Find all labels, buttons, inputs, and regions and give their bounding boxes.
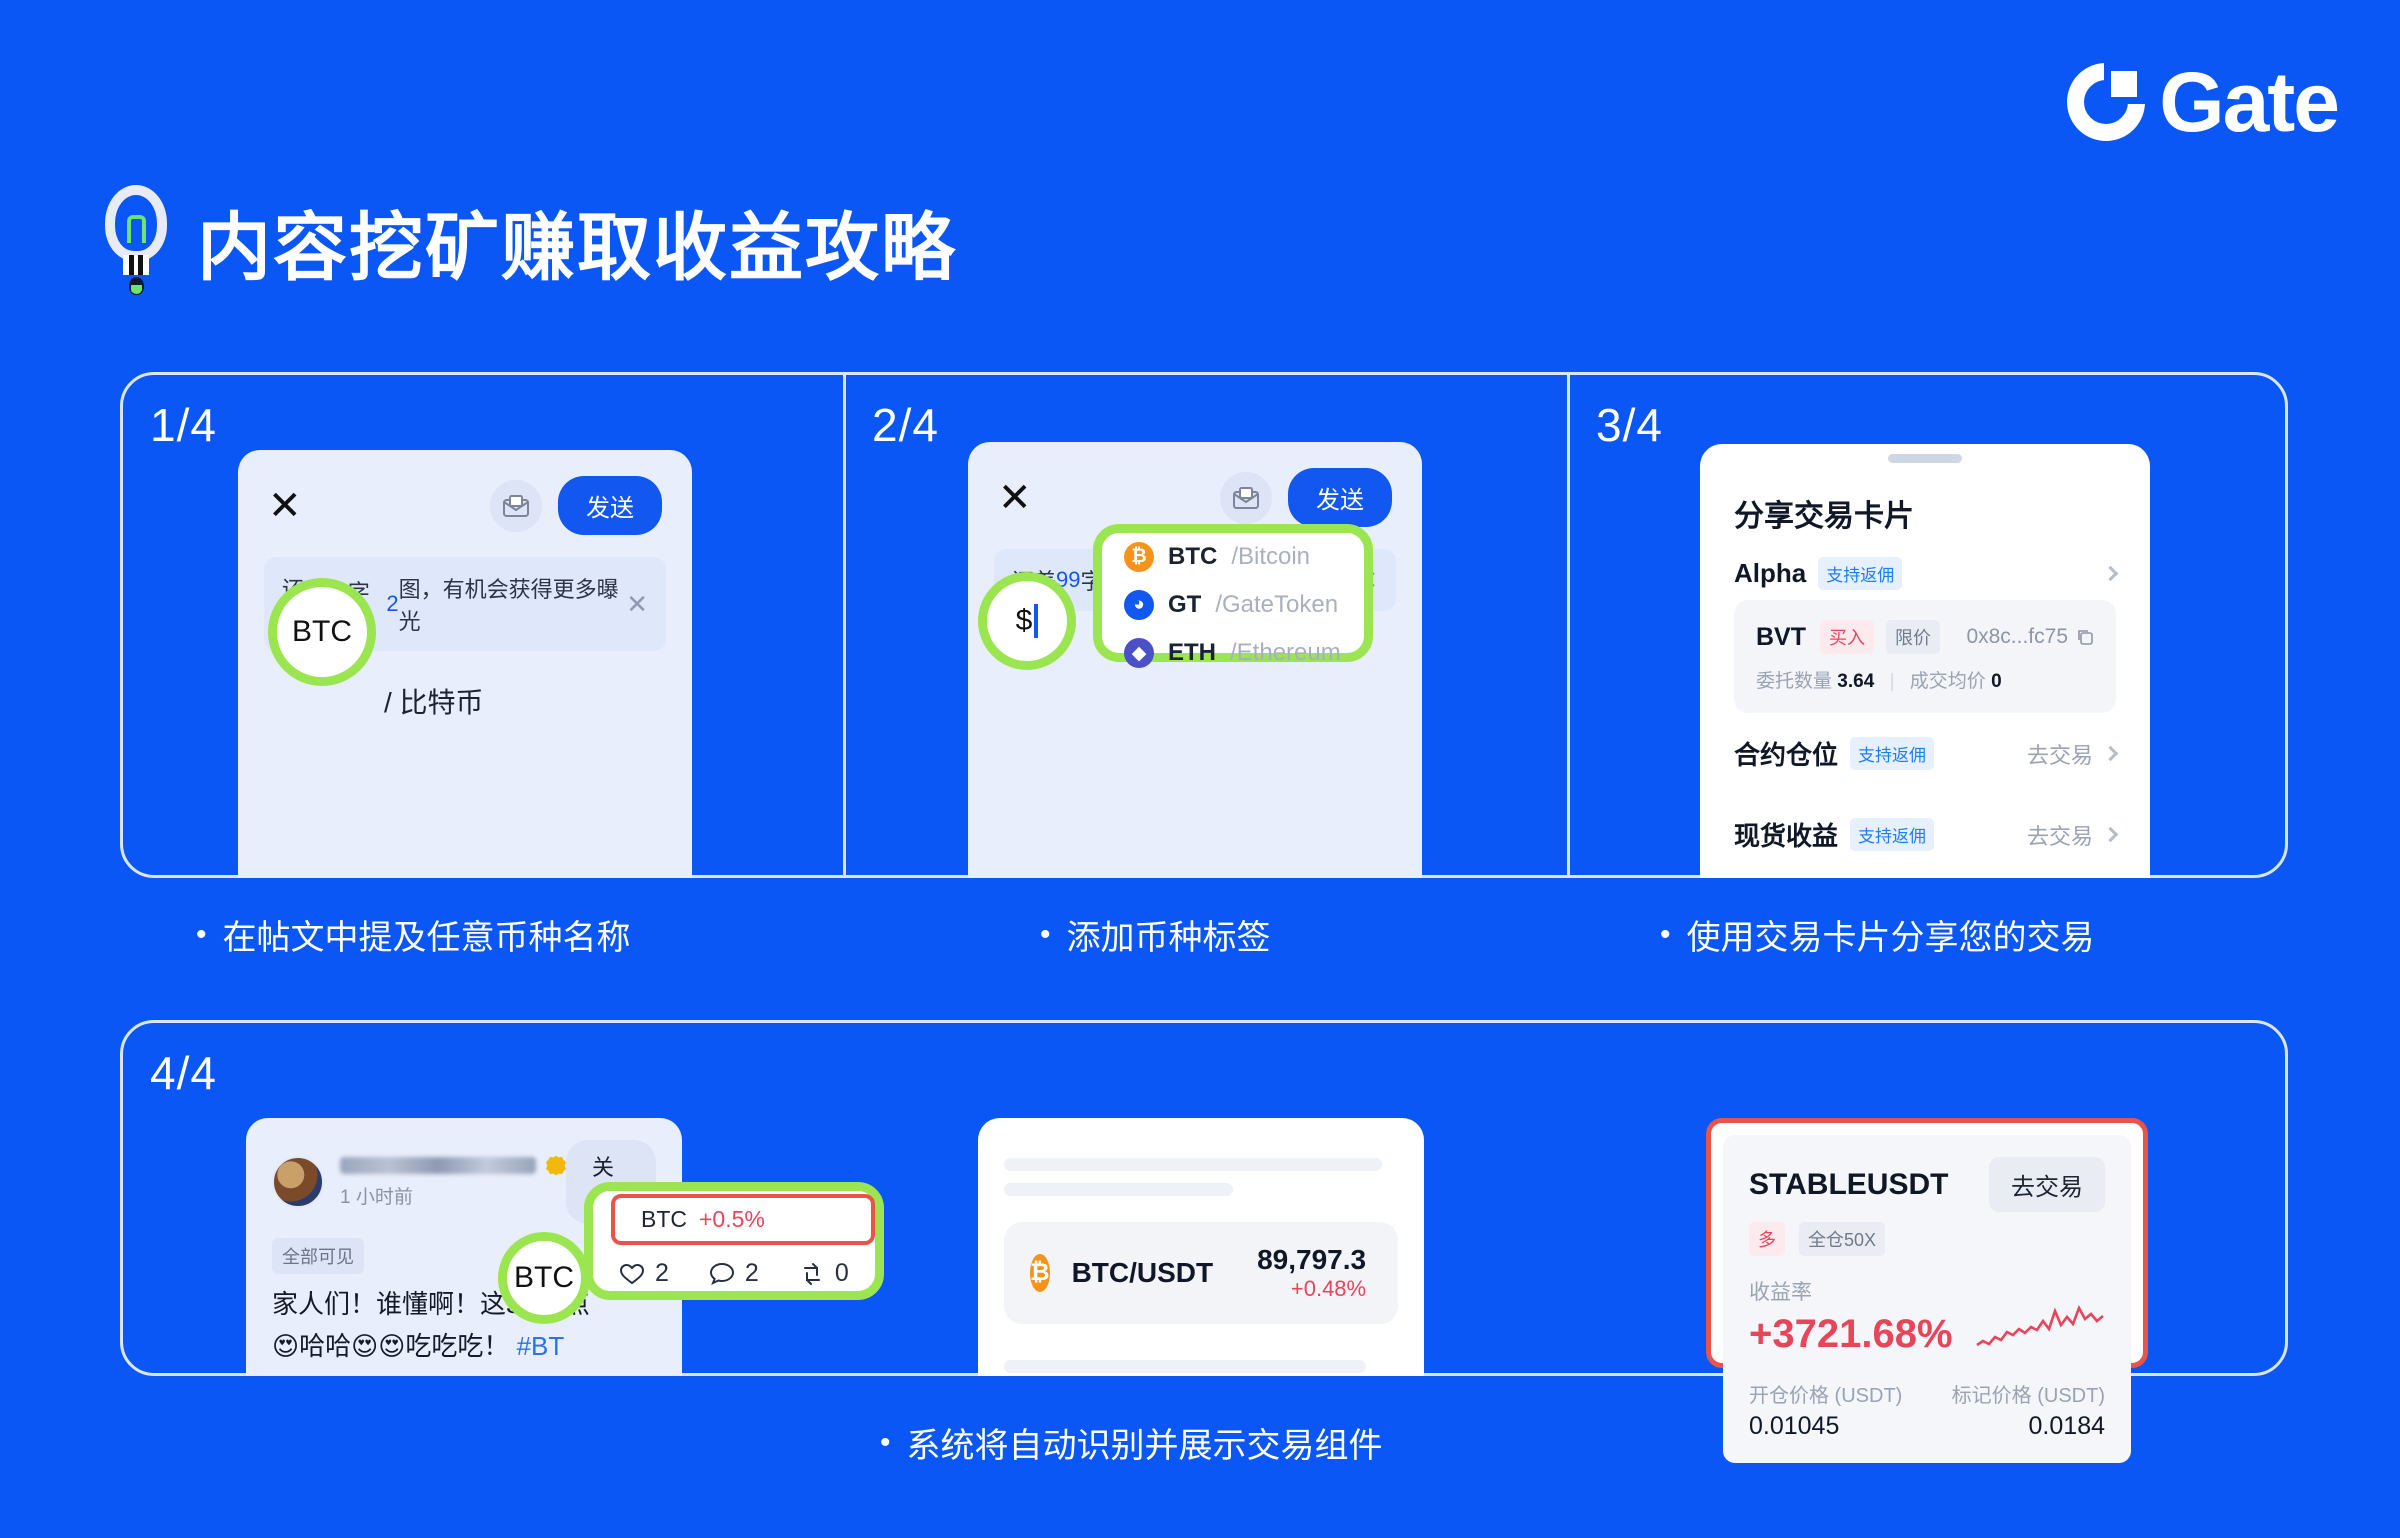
heart-icon <box>619 1262 645 1286</box>
mark-price-block: 标记价格 (USDT) 0.0184 <box>1952 1379 2105 1441</box>
chevron-right-icon <box>2103 827 2119 843</box>
post-identity: 1 小时前 <box>340 1156 566 1209</box>
like-count: 2 <box>655 1259 669 1288</box>
bullet-icon: • <box>880 1428 891 1458</box>
sparkline-icon <box>1975 1299 2105 1357</box>
close-icon[interactable]: ✕ <box>626 589 648 620</box>
row-label: Alpha <box>1734 558 1806 589</box>
caption-1: • 在帖文中提及任意币种名称 <box>196 910 631 959</box>
token-suggestion-dropdown[interactable]: ₿ BTC /Bitcoin ◕ GT /GateToken ◆ ETH /Et… <box>1093 524 1373 662</box>
post-trade-widget: BTC +0.5% 2 2 0 <box>584 1182 884 1300</box>
visibility-tag: 全部可见 <box>272 1238 364 1274</box>
row-label: 合约仓位 <box>1734 735 1838 772</box>
send-button[interactable]: 发送 <box>558 476 662 535</box>
caption-2: • 添加币种标签 <box>1040 910 1271 959</box>
copy-icon <box>2076 628 2094 646</box>
post-hashtag[interactable]: #BT <box>517 1331 565 1361</box>
position-margin-tag: 全仓50X <box>1799 1222 1885 1256</box>
token-name: /Ethereum <box>1230 639 1341 667</box>
order-address[interactable]: 0x8c...fc75 <box>1966 625 2094 649</box>
chip-symbol: BTC <box>641 1206 687 1233</box>
position-card: STABLEUSDT 去交易 多 全仓50X 收益率 +3721.68% 开仓价… <box>1706 1118 2148 1368</box>
bullet-icon: • <box>196 920 207 950</box>
composer-input-highlight[interactable]: $ <box>978 572 1076 670</box>
highlight-token-btc: BTC <box>498 1232 590 1324</box>
sheet-row-alpha[interactable]: Alpha 支持返佣 <box>1734 535 2116 596</box>
dropdown-item-gt[interactable]: ◕ GT /GateToken <box>1102 581 1364 629</box>
mark-price-label: 标记价格 (USDT) <box>1952 1379 2105 1408</box>
sheet-row-my-strategy[interactable]: 我的策略点位 设置 <box>1734 875 2116 878</box>
token-name: /GateToken <box>1215 591 1338 619</box>
page-title-row: 内容挖矿赚取收益攻略 <box>105 185 957 297</box>
avg-label: 成交均价 <box>1910 671 1986 692</box>
token-name: /Bitcoin <box>1231 543 1310 571</box>
like-stat[interactable]: 2 <box>619 1259 669 1288</box>
token-suffix-text: / 比特币 <box>264 681 666 721</box>
dropdown-item-eth[interactable]: ◆ ETH /Ethereum <box>1102 629 1364 677</box>
open-price-label: 开仓价格 (USDT) <box>1749 1379 1902 1408</box>
comment-count: 2 <box>745 1259 759 1288</box>
token-symbol: ETH <box>1168 639 1216 667</box>
step-number-2: 2/4 <box>872 398 939 452</box>
quote-change: +0.48% <box>1257 1276 1366 1302</box>
row-label: 现货收益 <box>1734 816 1838 853</box>
send-button[interactable]: 发送 <box>1288 468 1392 527</box>
position-side-tag: 多 <box>1749 1222 1785 1256</box>
caption-text: 使用交易卡片分享您的交易 <box>1687 910 2095 959</box>
position-card-inner: STABLEUSDT 去交易 多 全仓50X 收益率 +3721.68% 开仓价… <box>1723 1135 2131 1463</box>
caption-text: 添加币种标签 <box>1067 910 1271 959</box>
address-text: 0x8c...fc75 <box>1966 625 2068 649</box>
composer-input-value: $ <box>1016 604 1033 638</box>
chip-change: +0.5% <box>699 1206 765 1233</box>
caption-3: • 使用交易卡片分享您的交易 <box>1660 910 2095 959</box>
price-chip[interactable]: BTC +0.5% <box>611 1194 875 1245</box>
qty-value: 3.64 <box>1837 671 1874 692</box>
comment-stat[interactable]: 2 <box>709 1259 759 1288</box>
order-type-tag: 限价 <box>1886 620 1940 654</box>
step-number-1: 1/4 <box>150 398 217 452</box>
row-right[interactable]: 去交易 <box>2027 819 2116 851</box>
sheet-row-futures-position[interactable]: 合约仓位 支持返佣 去交易 <box>1734 713 2116 794</box>
post-emoji-text: 😍哈哈😍😍吃吃吃！ <box>272 1331 509 1361</box>
order-details: 委托数量 3.64 | 成交均价 0 <box>1756 666 2094 693</box>
roi-label: 收益率 <box>1749 1276 1953 1306</box>
bullet-icon: • <box>1660 920 1671 950</box>
position-title: STABLEUSDT <box>1749 1168 1948 1202</box>
composer-toolbar: ✕ 发送 <box>238 450 692 543</box>
lightbulb-icon <box>105 185 167 297</box>
chevron-right-icon <box>2103 566 2119 582</box>
close-icon[interactable]: ✕ <box>998 478 1032 518</box>
quote-card-wrapper: ₿ BTC/USDT 89,797.3 +0.48% <box>978 1118 1424 1376</box>
rebate-tag: 支持返佣 <box>1818 557 1902 590</box>
ethereum-icon: ◆ <box>1124 638 1154 668</box>
sheet-drag-handle[interactable] <box>1888 454 1962 463</box>
row-right <box>2105 568 2116 579</box>
share-trade-card-sheet: 分享交易卡片 Alpha 支持返佣 BVT 买入 限价 0x8c...fc75 … <box>1700 444 2150 878</box>
caption-text: 系统将自动识别并展示交易组件 <box>907 1418 1383 1467</box>
column-divider <box>1567 375 1570 875</box>
order-symbol: BVT <box>1756 623 1806 652</box>
position-roi-row: 收益率 +3721.68% <box>1749 1276 2105 1357</box>
sheet-title: 分享交易卡片 <box>1734 491 2116 535</box>
position-tags: 多 全仓50X <box>1749 1222 2105 1256</box>
composer-toolbar: ✕ 发送 <box>968 442 1422 535</box>
row-right[interactable]: 去交易 <box>2027 738 2116 770</box>
position-header: STABLEUSDT 去交易 <box>1749 1157 2105 1212</box>
notice-post: 图，有机会获得更多曝光 <box>399 572 627 636</box>
quote-pair: BTC/USDT <box>1072 1257 1214 1289</box>
quote-card[interactable]: ₿ BTC/USDT 89,797.3 +0.48% <box>1004 1222 1398 1324</box>
rebate-tag: 支持返佣 <box>1850 818 1934 851</box>
bitcoin-icon: ₿ <box>1030 1254 1050 1292</box>
poster-root: Gate 内容挖矿赚取收益攻略 1/4 2/4 3/4 ✕ 发送 还差 92 <box>0 0 2400 1538</box>
post-time: 1 小时前 <box>340 1182 566 1209</box>
notice-image-count: 2 <box>386 591 398 617</box>
draft-envelope-icon[interactable] <box>490 480 542 532</box>
qty-label: 委托数量 <box>1756 671 1832 692</box>
comment-icon <box>709 1262 735 1286</box>
position-prices: 开仓价格 (USDT) 0.01045 标记价格 (USDT) 0.0184 <box>1749 1379 2105 1441</box>
close-icon[interactable]: ✕ <box>268 486 302 526</box>
gatetoken-icon: ◕ <box>1124 590 1154 620</box>
avg-value: 0 <box>1991 671 2002 692</box>
order-summary[interactable]: BVT 买入 限价 0x8c...fc75 委托数量 3.64 | 成交均价 0 <box>1734 600 2116 713</box>
chevron-right-icon <box>2103 746 2119 762</box>
avatar[interactable] <box>272 1156 324 1208</box>
dropdown-item-btc[interactable]: ₿ BTC /Bitcoin <box>1102 533 1364 581</box>
username-blurred <box>340 1157 536 1174</box>
page-title: 内容挖矿赚取收益攻略 <box>197 188 957 295</box>
open-price-block: 开仓价格 (USDT) 0.01045 <box>1749 1379 1902 1441</box>
column-divider <box>843 375 846 875</box>
roi-value: +3721.68% <box>1749 1312 1953 1357</box>
token-symbol: BTC <box>1168 543 1217 571</box>
gate-logo-icon <box>2067 63 2145 141</box>
quote-price: 89,797.3 <box>1257 1244 1366 1276</box>
quote-price-block: 89,797.3 +0.48% <box>1257 1244 1366 1302</box>
gate-brand: Gate <box>2067 60 2338 144</box>
row-action: 去交易 <box>2027 738 2093 770</box>
go-trade-button[interactable]: 去交易 <box>1989 1157 2105 1212</box>
open-price-value: 0.01045 <box>1749 1412 1902 1441</box>
post-text-line2: 😍哈哈😍😍吃吃吃！ #BT <box>272 1328 656 1366</box>
sheet-row-spot-pnl[interactable]: 现货收益 支持返佣 去交易 <box>1734 794 2116 875</box>
brand-name: Gate <box>2159 60 2338 144</box>
order-header: BVT 买入 限价 0x8c...fc75 <box>1756 620 2094 654</box>
skeleton-placeholder-bottom <box>1004 1360 1398 1376</box>
step-number-4: 4/4 <box>150 1046 217 1100</box>
caption-text: 在帖文中提及任意币种名称 <box>223 910 631 959</box>
row-action: 去交易 <box>2027 819 2093 851</box>
highlight-token-btc: BTC <box>268 578 376 686</box>
post-stats: 2 2 0 <box>611 1259 875 1288</box>
order-side-tag: 买入 <box>1820 620 1874 654</box>
mark-price-value: 0.0184 <box>1952 1412 2105 1441</box>
repost-count: 0 <box>835 1259 849 1288</box>
repost-icon <box>799 1262 825 1286</box>
caption-4: • 系统将自动识别并展示交易组件 <box>880 1418 1383 1467</box>
draft-envelope-icon[interactable] <box>1220 472 1272 524</box>
verified-badge-icon <box>546 1156 566 1176</box>
repost-stat[interactable]: 0 <box>799 1259 849 1288</box>
bullet-icon: • <box>1040 920 1051 950</box>
bitcoin-icon: ₿ <box>1124 542 1154 572</box>
rebate-tag: 支持返佣 <box>1850 737 1934 770</box>
step-number-3: 3/4 <box>1596 398 1663 452</box>
skeleton-placeholder-top <box>1004 1158 1398 1196</box>
token-symbol: GT <box>1168 591 1201 619</box>
